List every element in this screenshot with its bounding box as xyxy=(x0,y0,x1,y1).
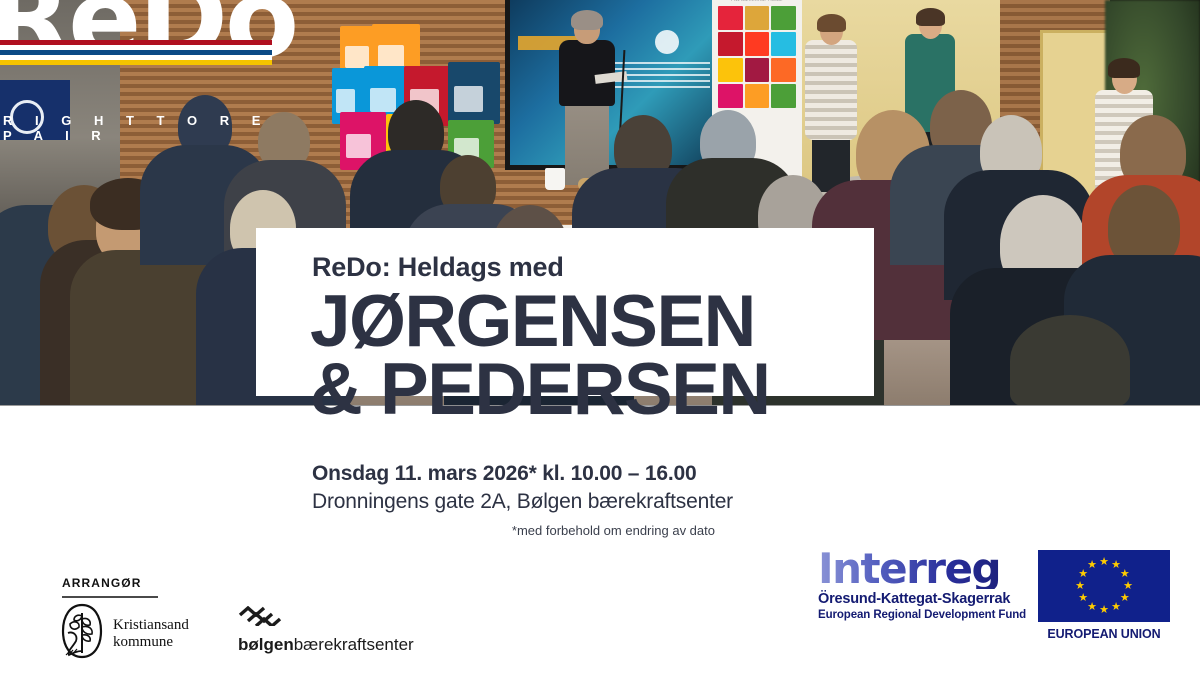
event-datetime: Onsdag 11. mars 2026* kl. 10.00 – 16.00 xyxy=(312,462,733,486)
photo-screen-graphic xyxy=(655,30,679,54)
photo-standing-attendee-body xyxy=(805,40,857,140)
headline-line-1: JØRGENSEN xyxy=(310,288,770,356)
bolgen-wordmark: bølgenbærekraftsenter xyxy=(238,635,414,655)
european-union-logo: ★★★★★★★★★★★★ EUROPEAN UNION xyxy=(1038,550,1170,641)
wave-lines-icon xyxy=(238,613,290,630)
kristiansand-kommune-text: Kristiansand kommune xyxy=(113,617,189,651)
eu-star-icon: ★ xyxy=(1099,557,1109,567)
bolgen-logo: bølgenbærekraftsenter xyxy=(238,606,414,655)
photo-speaker-hair xyxy=(571,10,603,30)
kristiansand-line-1: Kristiansand xyxy=(113,617,189,633)
redo-logo: ReDo R I G H T T O R E P A I R xyxy=(0,0,290,145)
organizer-divider xyxy=(62,596,158,598)
eu-star-icon: ★ xyxy=(1087,560,1097,570)
photo-cup xyxy=(545,168,565,190)
eu-star-icon: ★ xyxy=(1123,581,1133,591)
eu-star-icon: ★ xyxy=(1120,593,1130,603)
interreg-logo: Interreg Öresund-Kattegat-Skagerrak Euro… xyxy=(818,549,1026,621)
event-date-disclaimer: *med forbehold om endring av dato xyxy=(312,523,733,538)
photo-sdg-poster-title: FNs BÆREKRAFTSMÅL xyxy=(712,0,802,2)
event-venue: Dronningens gate 2A, Bølgen bærekraftsen… xyxy=(312,490,733,514)
photo-standing-attendee-hair xyxy=(817,14,846,32)
kristiansand-line-2: kommune xyxy=(113,634,173,650)
photo-standing-attendee-hair xyxy=(1108,58,1140,78)
photo-sdg-banner xyxy=(448,62,500,124)
event-details: Onsdag 11. mars 2026* kl. 10.00 – 16.00 … xyxy=(312,462,733,538)
eu-star-icon: ★ xyxy=(1078,593,1088,603)
eu-star-icon: ★ xyxy=(1099,605,1109,615)
organizer-label: ARRANGØR xyxy=(62,576,141,590)
eu-flag: ★★★★★★★★★★★★ xyxy=(1038,550,1170,622)
headline-kicker: ReDo: Heldags med xyxy=(312,252,564,283)
bolgen-bold-text: bølgen xyxy=(238,635,294,654)
kristiansand-kommune-logo: Kristiansand kommune xyxy=(60,603,189,664)
interreg-programme: Öresund-Kattegat-Skagerrak xyxy=(818,591,1026,607)
eu-star-icon: ★ xyxy=(1075,581,1085,591)
eu-label: EUROPEAN UNION xyxy=(1038,627,1170,641)
interreg-wordmark: Interreg xyxy=(818,549,1026,589)
headline-line-2: & PEDERSEN xyxy=(310,356,770,424)
interreg-fund: European Regional Development Fund xyxy=(818,609,1026,621)
kristiansand-coat-of-arms-icon xyxy=(60,603,104,664)
redo-stripe-bar xyxy=(0,40,272,65)
eu-star-icon: ★ xyxy=(1111,602,1121,612)
event-poster: FNs BÆREKRAFTSMÅL xyxy=(0,0,1200,675)
photo-chair xyxy=(1010,315,1130,406)
photo-standing-attendee-hair xyxy=(916,8,945,26)
eu-star-icon: ★ xyxy=(1087,602,1097,612)
redo-tagline: R I G H T T O R E P A I R xyxy=(3,113,290,143)
eu-star-icon: ★ xyxy=(1120,569,1130,579)
headline-title: JØRGENSEN & PEDERSEN xyxy=(310,288,770,424)
bolgen-regular-text: bærekraftsenter xyxy=(294,635,414,654)
photo-sdg-poster-grid xyxy=(718,6,796,108)
